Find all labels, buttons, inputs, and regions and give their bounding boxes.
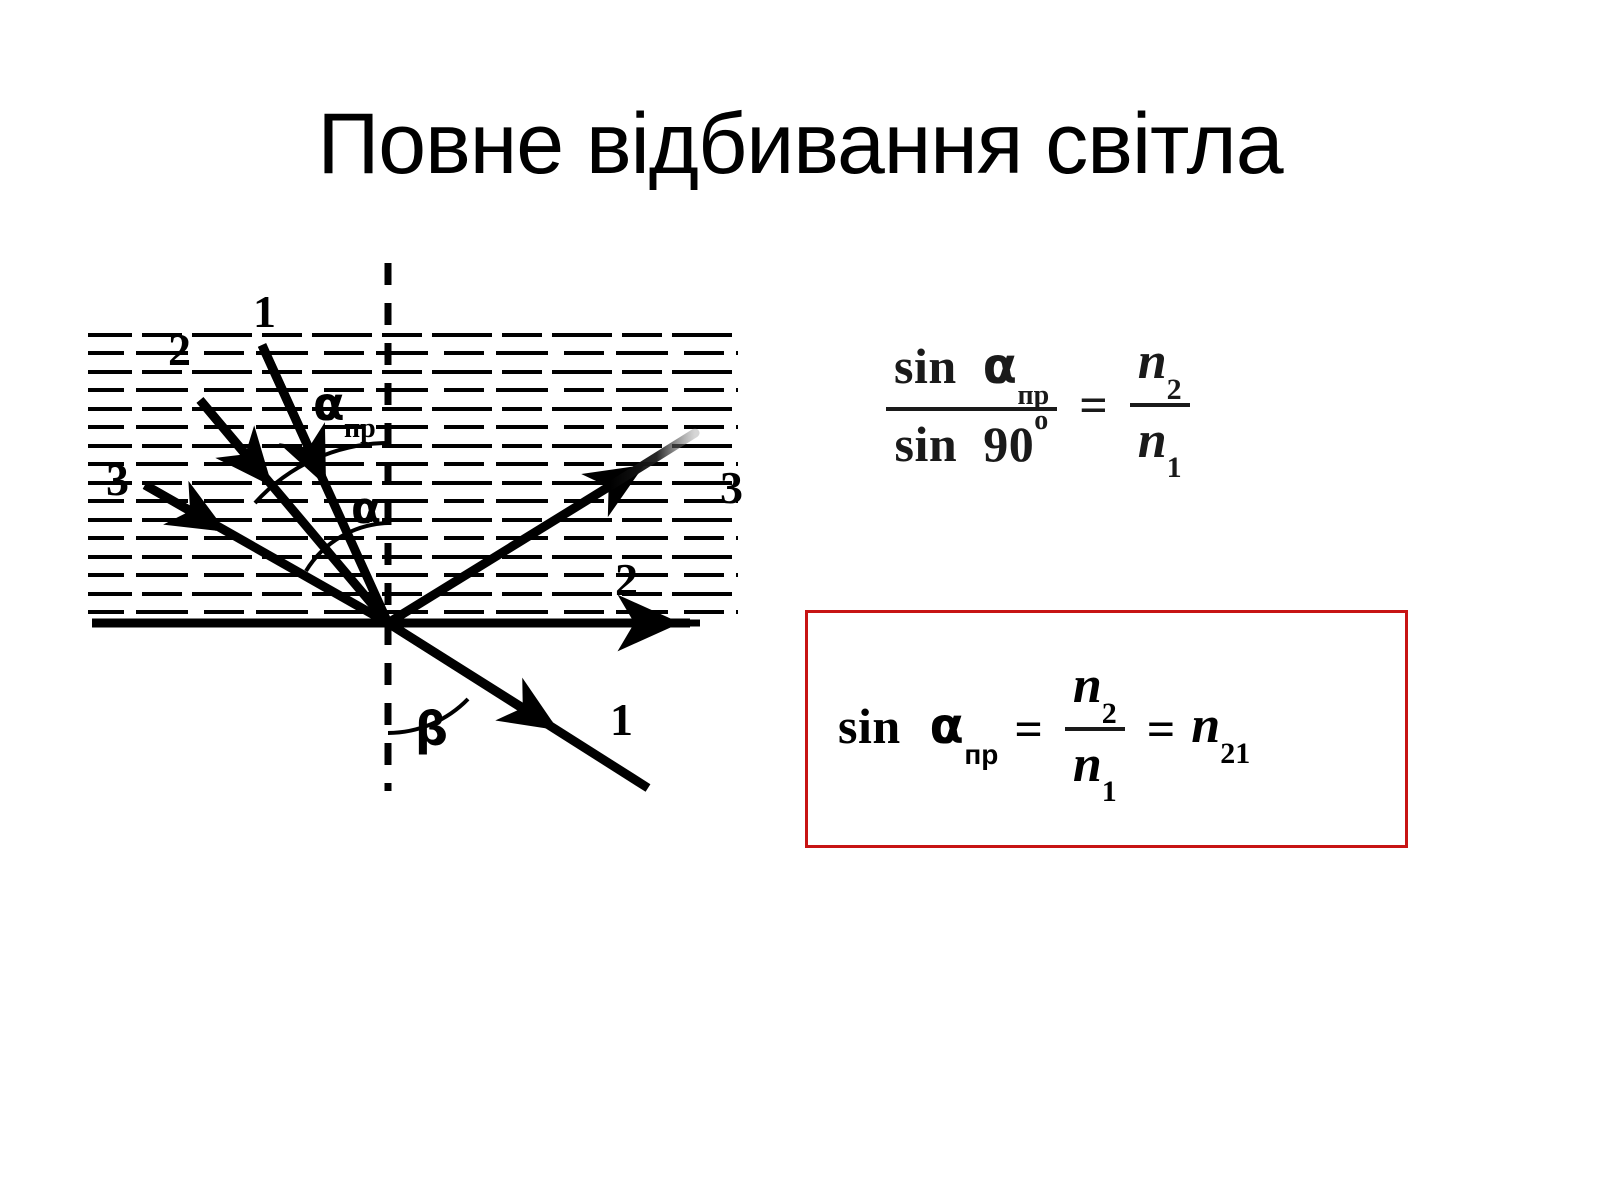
label-angle-alpha: α	[351, 483, 381, 534]
refracted-ray-1-arrow	[388, 623, 550, 725]
fraction-denominator: sin 90o	[887, 415, 1057, 473]
highlighted-formula-box: sin αпр = n2 n1 = n21	[805, 610, 1408, 848]
equals-sign-2: =	[1147, 700, 1176, 758]
label-grazing-ray-2: 2	[615, 554, 638, 605]
label-reflected-ray-3: 3	[720, 462, 743, 513]
label-incident-ray-3: 3	[106, 454, 129, 505]
label-incident-ray-2: 2	[168, 324, 191, 375]
equals-sign-1: =	[1014, 700, 1043, 758]
fraction-sin-ratio: sin αпр sin 90o	[886, 337, 1057, 473]
alpha-symbol-numerator: α	[983, 337, 1018, 395]
relative-refractive-index-n21: n21	[1191, 696, 1250, 761]
formula-critical-angle-ratio: sin αпр sin 90o = n2 n1	[880, 305, 1350, 505]
n-subscript-1: 1	[1102, 775, 1117, 808]
sin-label: sin	[838, 698, 901, 754]
ray-diagram: 1 2 3 3 2 1 α пр α β	[70, 255, 770, 825]
label-angle-beta: β	[415, 702, 448, 756]
fraction-index-ratio: n2 n1	[1130, 332, 1190, 478]
sin-label-numerator: sin	[894, 338, 957, 394]
n-symbol-bottom: n	[1138, 412, 1167, 469]
ray-diagram-svg: 1 2 3 3 2 1 α пр α β	[70, 255, 770, 825]
alpha-subscript: пр	[964, 739, 998, 770]
refractive-index-n1: n1	[1130, 411, 1190, 478]
refractive-index-n1: n1	[1065, 735, 1125, 802]
degree-symbol: o	[1034, 405, 1049, 436]
refractive-index-n2: n2	[1065, 656, 1125, 723]
n-symbol-top: n	[1073, 657, 1102, 714]
n-subscript-1: 1	[1167, 451, 1182, 484]
angle-90-value: 90	[983, 416, 1034, 472]
n-symbol-result: n	[1191, 697, 1220, 754]
fraction-numerator: sin αпр	[886, 337, 1057, 403]
n-subscript-21: 21	[1220, 737, 1250, 770]
n-subscript-2: 2	[1102, 697, 1117, 730]
slide-canvas: Повне відбивання світла	[0, 0, 1600, 1200]
label-angle-alpha-critical-subscript: пр	[344, 413, 376, 444]
page-title: Повне відбивання світла	[0, 95, 1600, 194]
alpha-symbol: α	[929, 697, 964, 755]
refractive-index-n2: n2	[1130, 332, 1190, 399]
label-angle-alpha-critical: α	[313, 377, 345, 431]
n-symbol-top: n	[1138, 333, 1167, 390]
n-subscript-2: 2	[1167, 373, 1182, 406]
equals-sign: =	[1079, 376, 1108, 434]
lhs-sin-alpha-critical: sin αпр	[838, 697, 998, 761]
label-refracted-ray-1: 1	[610, 694, 633, 745]
n-symbol-bottom: n	[1073, 736, 1102, 793]
sin-label-denominator: sin	[895, 416, 958, 472]
label-incident-ray-1: 1	[253, 286, 276, 337]
fraction-index-ratio: n2 n1	[1065, 656, 1125, 802]
